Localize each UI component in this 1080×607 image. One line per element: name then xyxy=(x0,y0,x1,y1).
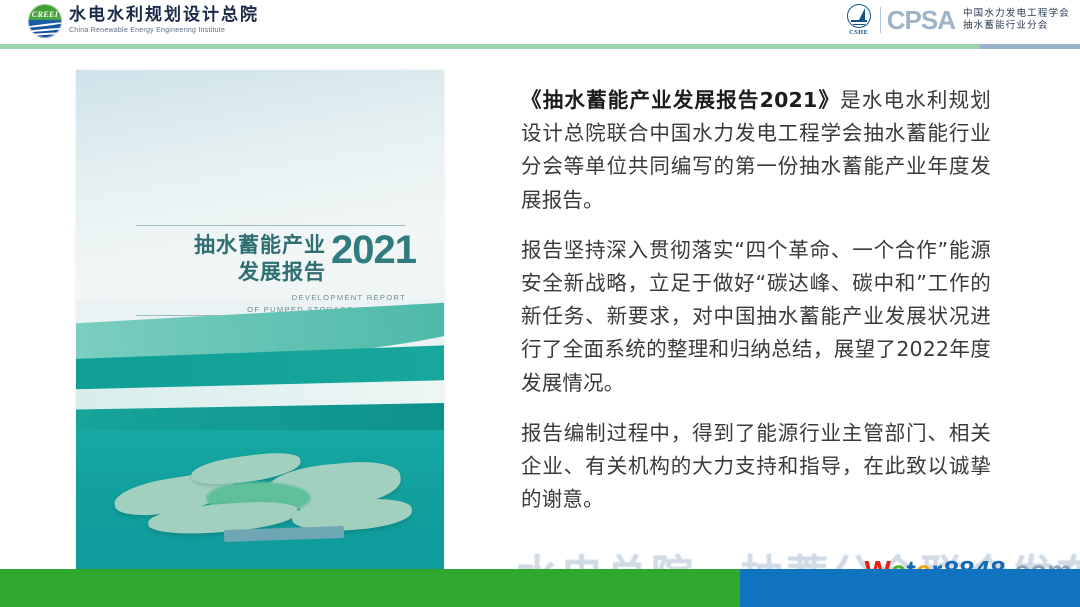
footer-blue-band xyxy=(740,569,1080,607)
cpsa-acronym: CPSA xyxy=(887,7,955,33)
book-cover-rule-top xyxy=(136,225,406,226)
book-cover-title-line1: 抽水蓄能产业 xyxy=(116,232,326,259)
header-divider-bar xyxy=(0,44,1080,49)
creei-org-name-en: China Renewable Energy Engineering Insti… xyxy=(69,27,259,34)
creei-org-name-cn: 水电水利规划设计总院 xyxy=(69,7,259,25)
header-right-branding: CSHE CPSA 中国水力发电工程学会 抽水蓄能行业分会 xyxy=(844,4,1070,36)
creei-text-block: 水电水利规划设计总院 China Renewable Energy Engine… xyxy=(69,7,259,34)
paragraph-3: 报告编制过程中，得到了能源行业主管部门、相关企业、有关机构的大力支持和指导，在此… xyxy=(521,417,991,517)
book-cover-subtitle-line1: DEVELOPMENT REPORT xyxy=(136,292,406,304)
cpsa-org-name-cn: 中国水力发电工程学会 抽水蓄能行业分会 xyxy=(963,8,1070,32)
cshe-emblem-icon: CSHE xyxy=(844,4,874,36)
page-header: CREEI 水电水利规划设计总院 China Renewable Energy … xyxy=(0,0,1080,46)
header-divider-blue xyxy=(980,44,1080,49)
cpsa-org-line1: 中国水力发电工程学会 xyxy=(963,8,1070,20)
report-title-bold: 《抽水蓄能产业发展报告2021》 xyxy=(521,88,840,112)
creei-logo-icon: CREEI xyxy=(28,4,62,38)
cpsa-org-line2: 抽水蓄能行业分会 xyxy=(963,20,1070,32)
book-cover-year: 2021 xyxy=(331,228,416,273)
cover-aerial-landscape xyxy=(96,442,426,552)
footer-green-band xyxy=(0,569,740,607)
main-text-content: 《抽水蓄能产业发展报告2021》是水电水利规划设计总院联合中国水力发电工程学会抽… xyxy=(521,84,991,516)
book-cover-image: 抽水蓄能产业 发展报告 2021 DEVELOPMENT REPORT OF P… xyxy=(76,70,444,570)
page-footer xyxy=(0,569,1080,607)
header-divider-green xyxy=(0,44,980,49)
header-logo-divider xyxy=(880,7,881,33)
book-cover-title-line2: 发展报告 xyxy=(116,259,326,286)
paragraph-1: 《抽水蓄能产业发展报告2021》是水电水利规划设计总院联合中国水力发电工程学会抽… xyxy=(521,84,991,217)
book-cover-title: 抽水蓄能产业 发展报告 xyxy=(116,232,326,286)
header-left-branding: CREEI 水电水利规划设计总院 China Renewable Energy … xyxy=(28,4,259,38)
cshe-label: CSHE xyxy=(844,29,874,36)
creei-badge-text: CREEI xyxy=(28,10,62,19)
paragraph-2: 报告坚持深入贯彻落实“四个革命、一个合作”能源安全新战略，立足于做好“碳达峰、碳… xyxy=(521,234,991,400)
